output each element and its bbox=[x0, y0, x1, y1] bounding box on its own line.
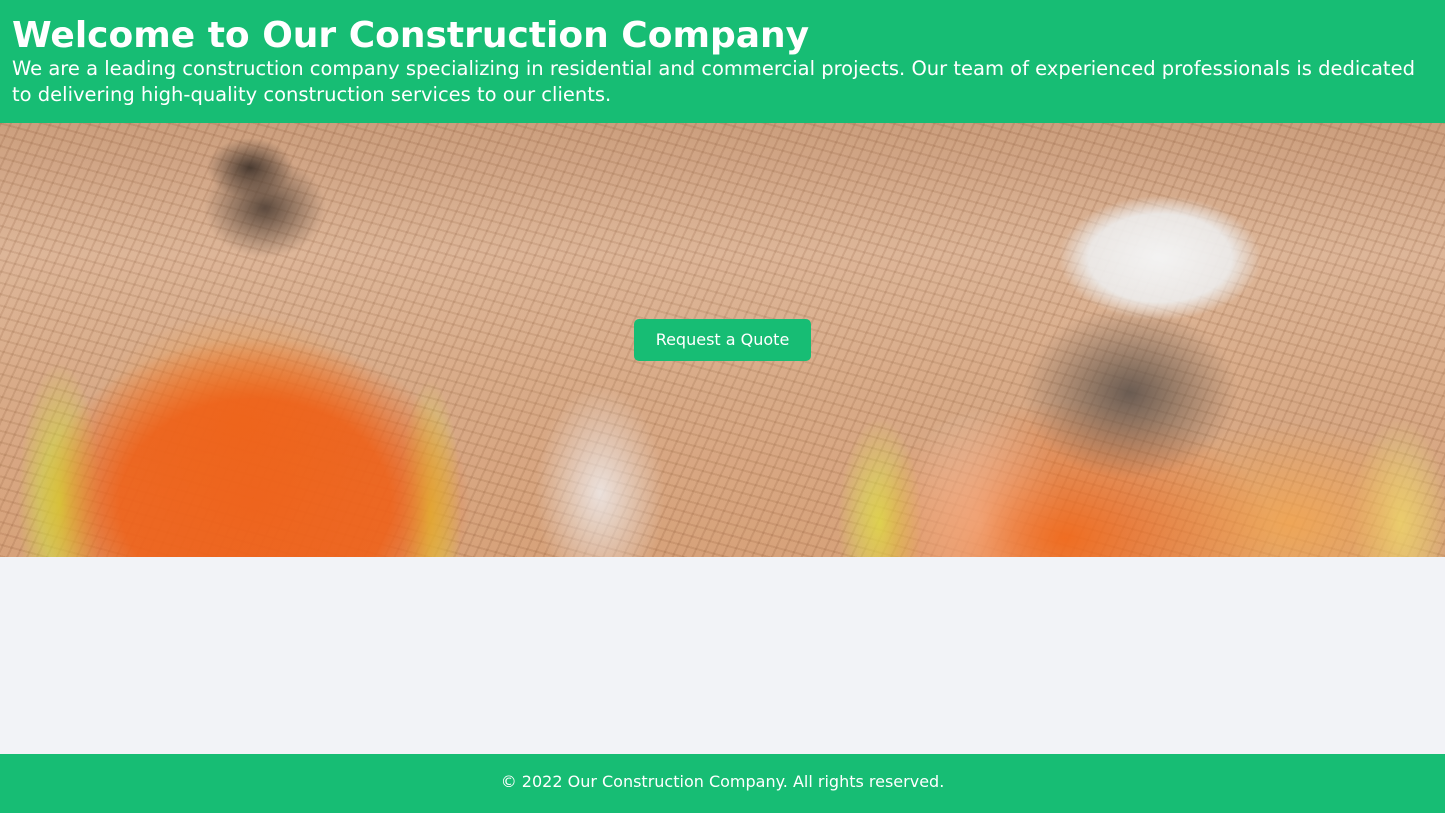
main-content-area bbox=[0, 557, 1445, 754]
hero-section: Request a Quote bbox=[0, 123, 1445, 557]
site-footer: © 2022 Our Construction Company. All rig… bbox=[0, 754, 1445, 813]
site-header: Welcome to Our Construction Company We a… bbox=[0, 0, 1445, 123]
page-root: Welcome to Our Construction Company We a… bbox=[0, 0, 1445, 813]
header-subtitle: We are a leading construction company sp… bbox=[12, 56, 1433, 107]
request-quote-button[interactable]: Request a Quote bbox=[634, 319, 812, 361]
footer-copyright: © 2022 Our Construction Company. All rig… bbox=[501, 772, 945, 791]
hero-cta-container: Request a Quote bbox=[0, 123, 1445, 557]
page-title: Welcome to Our Construction Company bbox=[12, 16, 1433, 56]
